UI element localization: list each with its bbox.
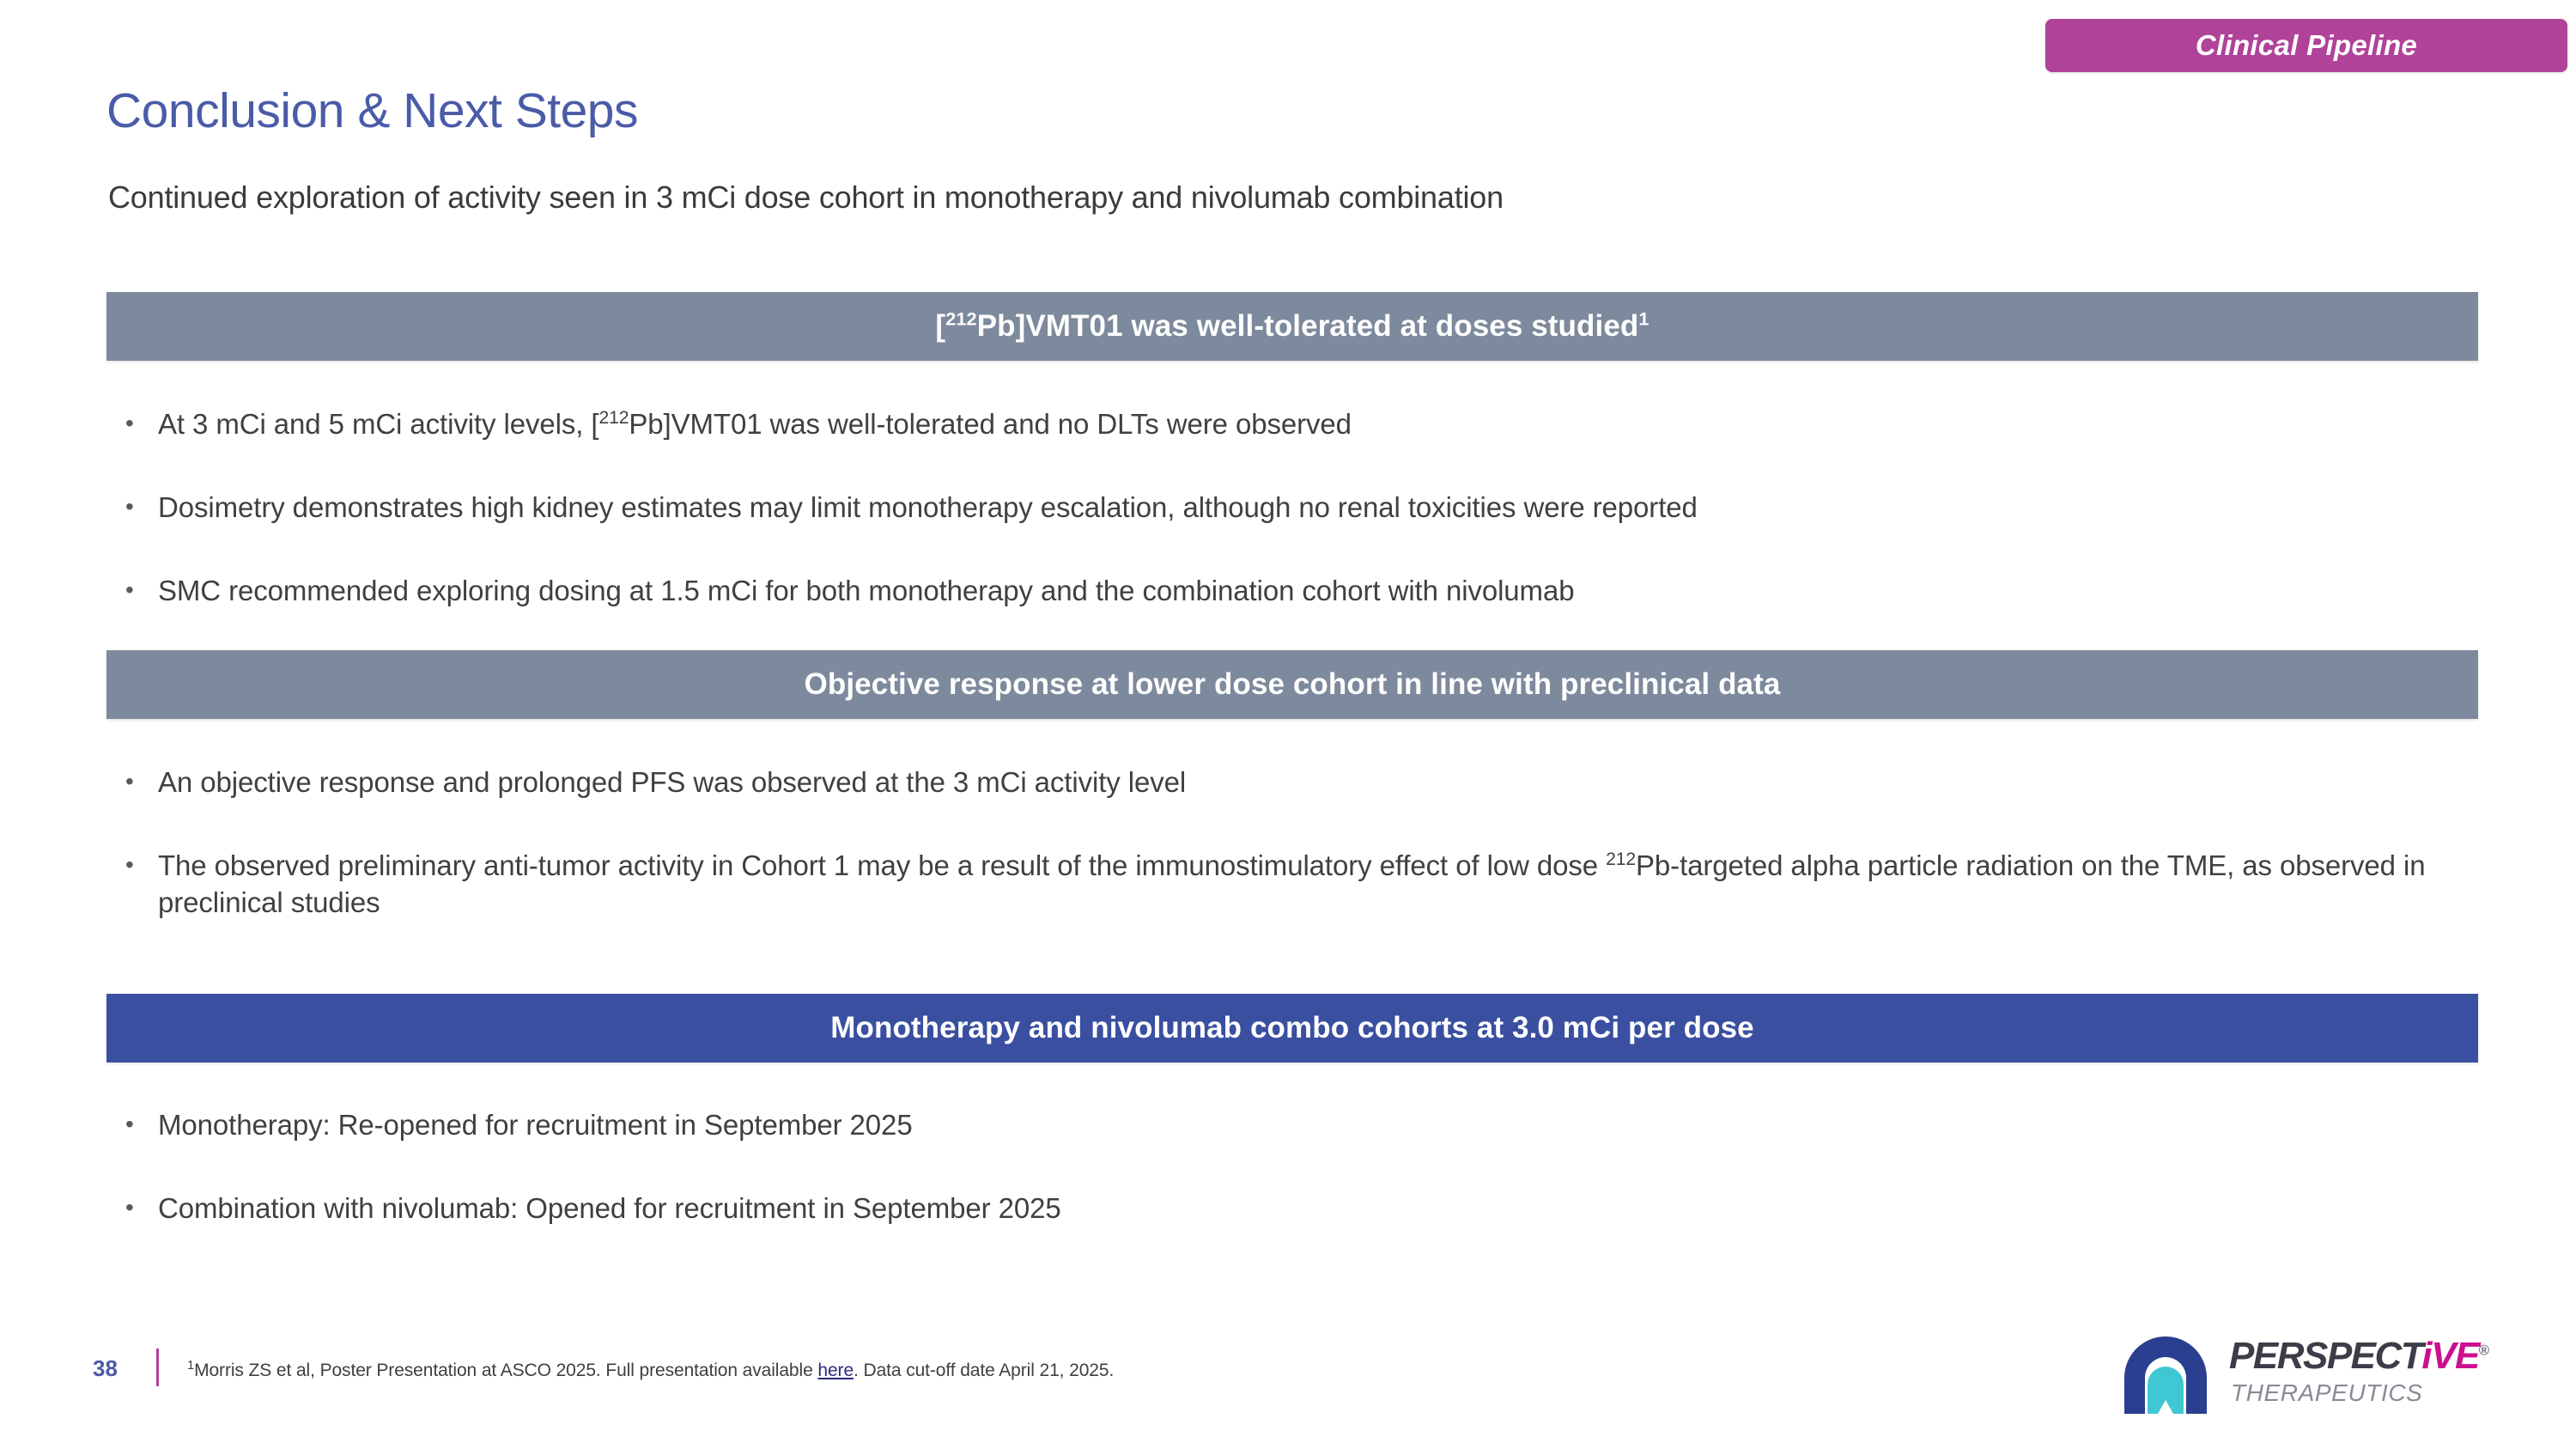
list-item: • The observed preliminary anti-tumor ac… bbox=[120, 848, 2456, 922]
page-subtitle: Continued exploration of activity seen i… bbox=[108, 180, 1504, 216]
logo-wordmark: PERSPECTiVE® bbox=[2229, 1335, 2488, 1378]
bullet-icon: • bbox=[120, 848, 158, 883]
perspective-arch-icon bbox=[2119, 1331, 2212, 1417]
clinical-pipeline-badge: Clinical Pipeline bbox=[2045, 19, 2567, 72]
footnote-citation: 1Morris ZS et al, Poster Presentation at… bbox=[187, 1361, 1114, 1381]
list-item: • SMC recommended exploring dosing at 1.… bbox=[120, 573, 2456, 610]
list-item-text: At 3 mCi and 5 mCi activity levels, [212… bbox=[158, 406, 2456, 443]
list-item-text: Monotherapy: Re-opened for recruitment i… bbox=[158, 1107, 2456, 1144]
list-item-text: The observed preliminary anti-tumor acti… bbox=[158, 848, 2456, 922]
logo-wordmark-accent: iVE bbox=[2421, 1335, 2478, 1377]
bullet-icon: • bbox=[120, 764, 158, 800]
slide-canvas: Clinical Pipeline Conclusion & Next Step… bbox=[0, 0, 2576, 1449]
page-title: Conclusion & Next Steps bbox=[106, 82, 638, 139]
logo-tagline: THERAPEUTICS bbox=[2231, 1379, 2422, 1407]
list-item-text: SMC recommended exploring dosing at 1.5 … bbox=[158, 573, 2456, 610]
bullet-icon: • bbox=[120, 1190, 158, 1226]
list-item-text: Combination with nivolumab: Opened for r… bbox=[158, 1190, 2456, 1227]
list-item: • Monotherapy: Re-opened for recruitment… bbox=[120, 1107, 2456, 1144]
list-item: • An objective response and prolonged PF… bbox=[120, 764, 2456, 801]
list-item: • Dosimetry demonstrates high kidney est… bbox=[120, 490, 2456, 527]
list-item-text: An objective response and prolonged PFS … bbox=[158, 764, 2456, 801]
list-item: • At 3 mCi and 5 mCi activity levels, [2… bbox=[120, 406, 2456, 443]
footnote-marker: 1 bbox=[1638, 307, 1649, 329]
list-item: • Combination with nivolumab: Opened for… bbox=[120, 1190, 2456, 1227]
registered-trademark-icon: ® bbox=[2479, 1342, 2488, 1358]
isotope-superscript: 212 bbox=[945, 307, 977, 329]
page-number: 38 bbox=[93, 1355, 118, 1382]
section-header-safety-label: [212Pb]VMT01 was well-tolerated at doses… bbox=[935, 309, 1649, 344]
isotope-superscript: 212 bbox=[1606, 849, 1636, 869]
bullet-icon: • bbox=[120, 573, 158, 608]
section-header-safety: [212Pb]VMT01 was well-tolerated at doses… bbox=[106, 292, 2478, 361]
list-item-text: Dosimetry demonstrates high kidney estim… bbox=[158, 490, 2456, 527]
footer-divider bbox=[156, 1349, 159, 1386]
bullet-icon: • bbox=[120, 490, 158, 525]
section-header-next-steps-label: Monotherapy and nivolumab combo cohorts … bbox=[830, 1011, 1754, 1045]
section-header-efficacy: Objective response at lower dose cohort … bbox=[106, 650, 2478, 719]
bullet-icon: • bbox=[120, 406, 158, 441]
footnote-link[interactable]: here bbox=[817, 1361, 854, 1380]
footnote-marker: 1 bbox=[187, 1359, 194, 1373]
bullet-icon: • bbox=[120, 1107, 158, 1142]
section-header-efficacy-label: Objective response at lower dose cohort … bbox=[805, 667, 1781, 702]
company-logo: PERSPECTiVE® THERAPEUTICS bbox=[2119, 1331, 2514, 1428]
isotope-superscript: 212 bbox=[598, 408, 629, 428]
clinical-pipeline-badge-label: Clinical Pipeline bbox=[2196, 29, 2417, 62]
section-header-next-steps: Monotherapy and nivolumab combo cohorts … bbox=[106, 994, 2478, 1062]
